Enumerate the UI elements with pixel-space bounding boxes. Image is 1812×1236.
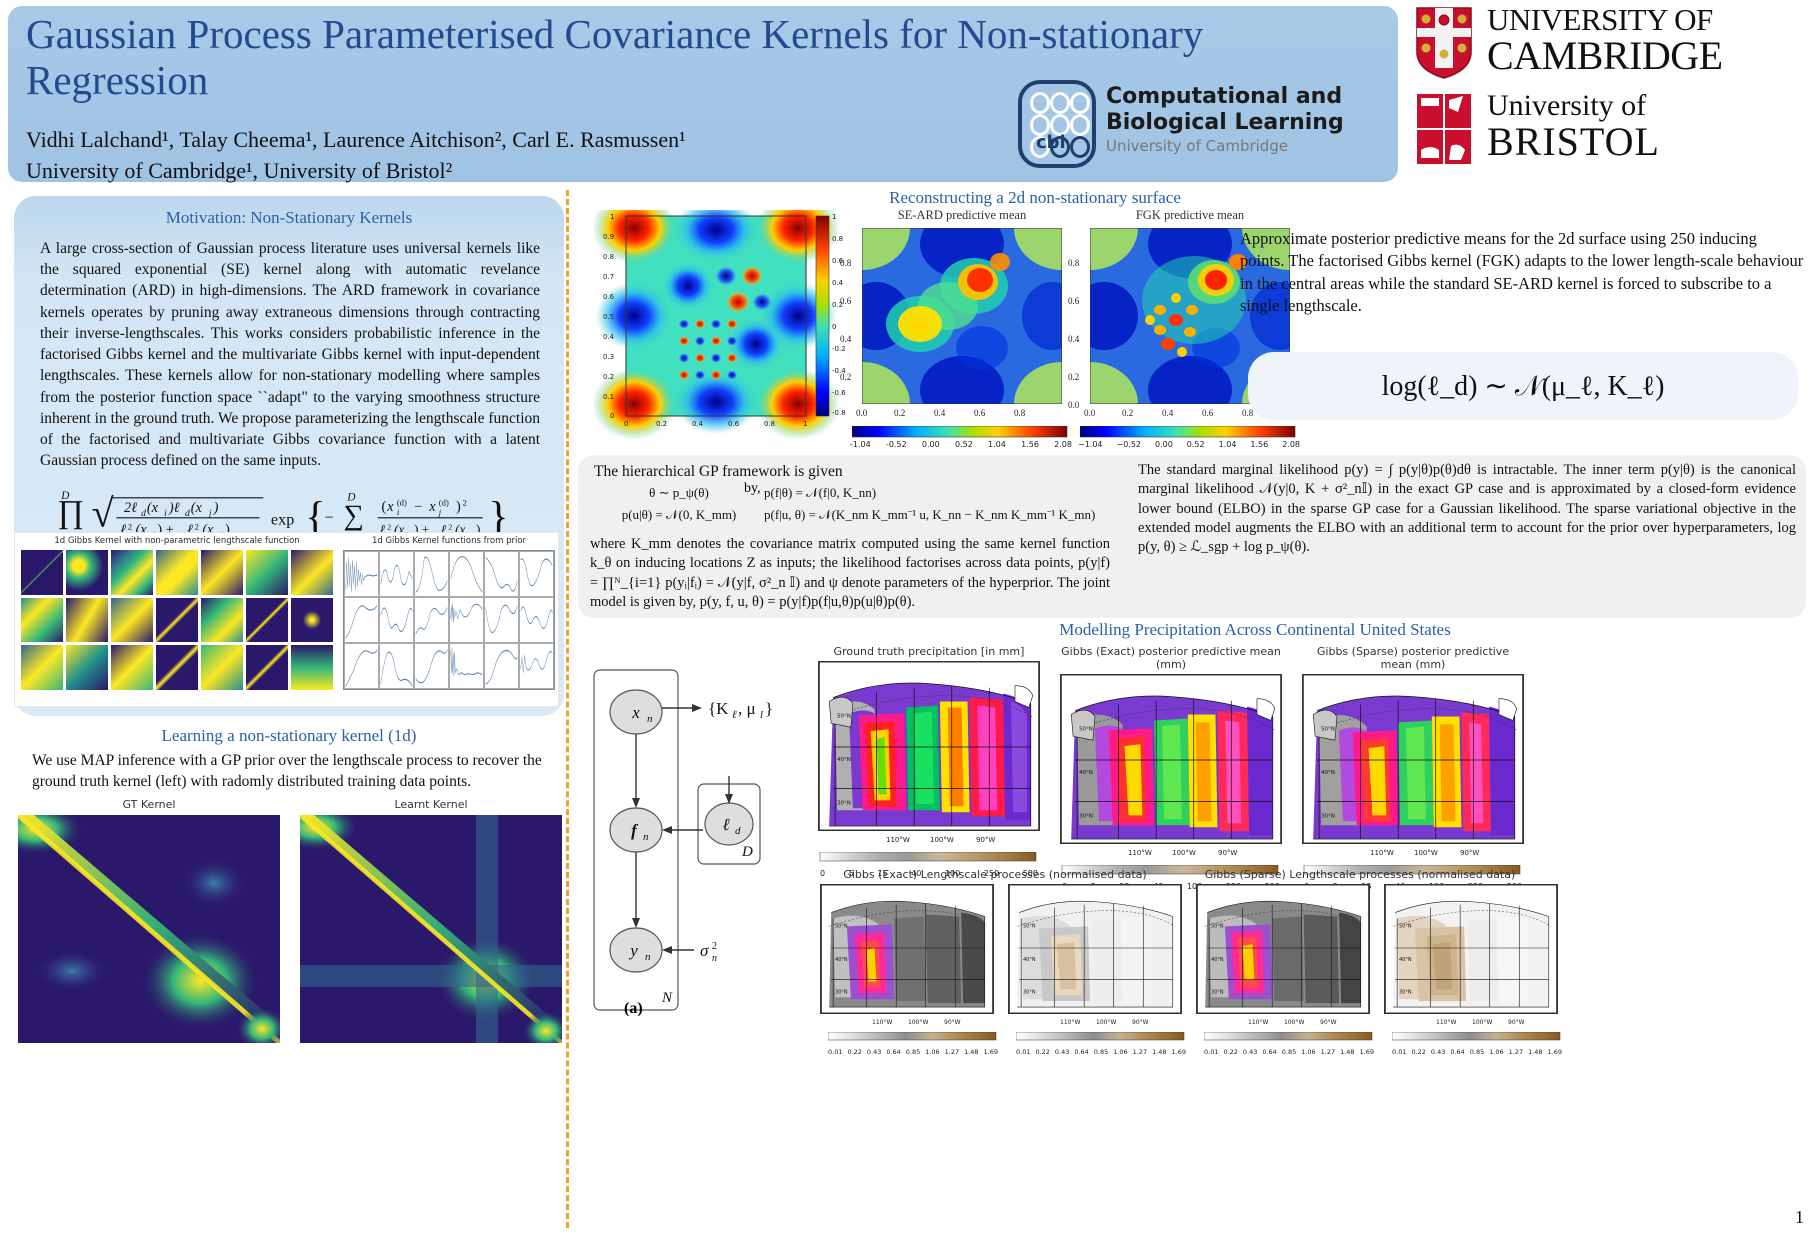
kernel-cell (111, 645, 153, 690)
svg-text:N: N (661, 990, 673, 1006)
kernel-cell (201, 550, 243, 595)
svg-text:y: y (628, 941, 638, 960)
svg-text:50°N: 50°N (1399, 923, 1412, 929)
precip-map-2-svg: 50°N 40°N 30°N (1060, 674, 1282, 844)
hierarchical-where-paragraph: where K_mm denotes the covariance matrix… (590, 535, 1110, 612)
lengthscale-map-2: 50°N 40°N 30°N 110°W 100°W 90°W (1008, 884, 1182, 1029)
svg-text:50°N: 50°N (1079, 726, 1093, 732)
svg-text:σ: σ (700, 941, 709, 960)
svg-text:30°N: 30°N (1079, 813, 1093, 819)
precip-map-1-colorbar (818, 852, 1040, 864)
fgk-colorbar-ticks: −1.04−0.520.000.521.041.562.08 (1078, 440, 1300, 449)
svg-text:): ) (456, 499, 461, 515)
kernel-cell (246, 550, 288, 595)
learnt-kernel-figure: Learnt Kernel (300, 798, 562, 1048)
svg-text:n: n (643, 831, 649, 843)
gt-kernel-figure: GT Kernel (18, 798, 280, 1048)
svg-text:n: n (645, 951, 651, 963)
lengthscale-colorbar-4-ticks: 0.010.220.430.640.851.061.271.481.69 (1392, 1048, 1562, 1056)
svg-text:30°N: 30°N (835, 989, 848, 995)
fgk-colorbar (1080, 426, 1300, 440)
kernel-cell (156, 645, 198, 690)
kernel-cell (246, 645, 288, 690)
svg-text:30°N: 30°N (1023, 989, 1036, 995)
gibbs-kernel-matrix-grid (21, 550, 333, 690)
learnt-kernel-title: Learnt Kernel (300, 798, 562, 811)
kernel-cell (291, 598, 333, 643)
gibbs-fig-left-title: 1d Gibbs Kernel with non-parametric leng… (21, 536, 333, 546)
lengthscale-colorbar-4: 0.010.220.430.640.851.061.271.481.69 (1392, 1030, 1562, 1056)
bristol-line-1: University of (1487, 90, 1660, 122)
svg-text:40°N: 40°N (837, 757, 851, 763)
hierarchical-framework-panel: The hierarchical GP framework is given b… (578, 455, 1806, 618)
svg-text:)ℓ: )ℓ (168, 500, 180, 516)
lengthscale-map-2-svg: 50°N 40°N 30°N (1008, 884, 1182, 1014)
lengthscale-sparse-title: Gibbs (Sparse) Lengthscale processes (no… (1190, 868, 1530, 881)
cbl-line-3: University of Cambridge (1106, 137, 1386, 155)
motivation-body-text: A large cross-section of Gaussian proces… (40, 238, 540, 472)
kernel-cell (291, 645, 333, 690)
prior-function-cell (344, 643, 379, 689)
kernel-cell (21, 550, 63, 595)
svg-text:i: i (397, 507, 400, 517)
svg-text:50°N: 50°N (1023, 923, 1036, 929)
svg-text:40°N: 40°N (1023, 957, 1036, 963)
kernel-cell (111, 550, 153, 595)
svg-text:x: x (631, 703, 640, 722)
cbl-wordmark: Computational and Biological Learning Un… (1106, 84, 1386, 155)
precip-map-3-svg: 50°N 40°N 30°N (1302, 674, 1524, 844)
kernel-cell (66, 645, 108, 690)
svg-text:30°N: 30°N (837, 800, 851, 806)
lengthscale-map-4-lonticks: 110°W 100°W 90°W (1384, 1019, 1558, 1029)
precip-map-3-title: Gibbs (Sparse) posterior predictive mean… (1302, 645, 1524, 671)
svg-text:2ℓ: 2ℓ (124, 500, 137, 516)
kernel-cell (156, 598, 198, 643)
reconstruction-blurb: Approximate posterior predictive means f… (1240, 228, 1805, 317)
motivation-heading: Motivation: Non-Stationary Kernels (14, 208, 564, 228)
author-list: Vidhi Lalchand¹, Talay Cheema¹, Laurence… (26, 124, 1026, 186)
seard-predictive-mean-figure: SE-ARD predictive mean 0.8 0.6 0.4 0.2 (862, 228, 1062, 428)
prior-function-cell (449, 643, 484, 689)
precip-map-2: Gibbs (Exact) posterior predictive mean … (1060, 645, 1282, 891)
seard-colorbar-ticks: -1.04-0.520.000.521.041.562.08 (850, 440, 1072, 449)
hierarchical-lead-text: The hierarchical GP framework is given (594, 463, 843, 481)
kernel-cell (246, 598, 288, 643)
svg-text:d: d (735, 825, 741, 837)
bristol-logo: University of BRISTOL (1415, 92, 1800, 182)
svg-text:(x: (x (147, 500, 159, 516)
lengthscale-map-4-svg: 50°N 40°N 30°N (1384, 884, 1558, 1014)
svg-text:30°N: 30°N (1399, 989, 1412, 995)
kernel-cell (111, 598, 153, 643)
svg-text:50°N: 50°N (1321, 726, 1335, 732)
svg-text:−: − (414, 499, 422, 515)
prior-function-cell (519, 643, 554, 689)
lengthscale-map-3: 50°N 40°N 30°N 110°W 100°W 90°W (1196, 884, 1370, 1029)
kernel-cell (156, 550, 198, 595)
seard-heatmap-svg (862, 228, 1062, 404)
lengthscale-colorbar-2: 0.010.220.430.640.851.061.271.481.69 (1016, 1030, 1186, 1056)
lengthscale-map-3-lonticks: 110°W 100°W 90°W (1196, 1019, 1370, 1029)
log-lengthscale-equation: log(ℓ_d) ∼ 𝒩(μ_ℓ, K_ℓ) (1248, 352, 1798, 420)
svg-text:(: ( (382, 499, 387, 515)
svg-text:40°N: 40°N (1211, 957, 1224, 963)
prior-function-cell (344, 551, 379, 597)
svg-text:40°N: 40°N (1399, 957, 1412, 963)
prior-function-cell (379, 597, 414, 643)
svg-text:D: D (60, 490, 70, 502)
svg-text:∑: ∑ (343, 501, 363, 532)
poster-header: Gaussian Process Parameterised Covarianc… (8, 6, 1398, 182)
cbl-line-1: Computational and (1106, 84, 1386, 110)
svg-text:50°N: 50°N (1211, 923, 1224, 929)
svg-text:j: j (438, 507, 442, 517)
prior-function-cell (449, 597, 484, 643)
lengthscale-colorbar-2-ticks: 0.010.220.430.640.851.061.271.481.69 (1016, 1048, 1186, 1056)
svg-text:50°N: 50°N (835, 923, 848, 929)
svg-text:40°N: 40°N (835, 957, 848, 963)
lengthscale-map-4: 50°N 40°N 30°N 110°W 100°W 90°W (1384, 884, 1558, 1029)
svg-text:n: n (712, 953, 717, 964)
prior-function-cell (484, 597, 519, 643)
gibbs-fig-right-title: 1d Gibbs Kernel functions from prior (343, 536, 555, 546)
kernel-cell (291, 550, 333, 595)
svg-text:ℓ: ℓ (732, 709, 737, 721)
svg-text:x: x (428, 499, 436, 515)
hier-eq-f-given-theta: p(f|θ) = 𝒩(f|0, K_nn) (764, 485, 1114, 501)
kernel-cell (201, 598, 243, 643)
reconstruction-heading: Reconstructing a 2d non-stationary surfa… (600, 188, 1470, 208)
gibbs-prior-functions-grid (343, 550, 555, 690)
prior-function-cell (484, 551, 519, 597)
svg-text:D: D (346, 492, 356, 504)
precip-map-3-lonticks: 110°W 100°W 90°W (1302, 849, 1524, 861)
prior-function-cell (519, 597, 554, 643)
prior-function-cell (414, 643, 449, 689)
prior-function-cell (414, 551, 449, 597)
svg-text:(d): (d) (397, 497, 407, 507)
authors-line-1: Vidhi Lalchand¹, Talay Cheema¹, Laurence… (26, 124, 1026, 155)
hier-eq-f-given-u-theta: p(f|u, θ) = 𝒩(K_nm K_mm⁻¹ u, K_nn − K_nm… (764, 507, 1114, 523)
cbl-line-2: Biological Learning (1106, 110, 1386, 136)
precip-map-2-lonticks: 110°W 100°W 90°W (1060, 849, 1282, 861)
lengthscale-map-3-svg: 50°N 40°N 30°N (1196, 884, 1370, 1014)
hierarchical-equations: θ ∼ p_ψ(θ) p(f|θ) = 𝒩(f|0, K_nn) p(u|θ) … (594, 485, 1114, 523)
cambridge-line-1: UNIVERSITY OF (1487, 4, 1723, 36)
cambridge-logo: UNIVERSITY OF CAMBRIDGE (1415, 6, 1800, 86)
precip-map-1-title: Ground truth precipitation [in mm] (818, 645, 1040, 658)
log-equation-text: log(ℓ_d) ∼ 𝒩(μ_ℓ, K_ℓ) (1382, 369, 1665, 403)
plate-diagram-svg: N D x n f n y n ℓ d {K ℓ , μ l } (590, 660, 820, 1020)
svg-text:(d): (d) (439, 497, 449, 507)
prior-function-cell (344, 597, 379, 643)
lengthscale-colorbar-1-ticks: 0.010.220.430.640.851.061.271.481.69 (828, 1048, 998, 1056)
kernel-cell (21, 645, 63, 690)
svg-text:, μ: , μ (738, 699, 756, 718)
page-number: 1 (1795, 1207, 1804, 1228)
learning-body-text: We use MAP inference with a GP prior ove… (32, 750, 552, 792)
svg-text:}: } (765, 699, 773, 718)
cambridge-crest-icon (1415, 6, 1473, 80)
precip-map-1-lonticks: 110°W 100°W 90°W (818, 836, 1040, 848)
gibbs-kernel-figure: 1d Gibbs Kernel with non-parametric leng… (14, 532, 559, 707)
svg-text:2: 2 (712, 941, 717, 952)
svg-text:√: √ (92, 490, 114, 535)
svg-text:ℓ: ℓ (722, 815, 729, 834)
hier-eq-u-given-theta: p(u|θ) = 𝒩(0, K_mm) (594, 507, 764, 523)
fgk-title: FGK predictive mean (1090, 208, 1290, 223)
kernel-cell (66, 598, 108, 643)
prior-function-cell (484, 643, 519, 689)
lengthscale-exact-title: Gibbs (Exact) Lengthscale processes (nor… (830, 868, 1160, 881)
lengthscale-map-1-lonticks: 110°W 100°W 90°W (820, 1019, 994, 1029)
cambridge-line-2: CAMBRIDGE (1487, 36, 1723, 76)
bristol-crest-icon (1415, 92, 1473, 166)
svg-text:30°N: 30°N (1321, 813, 1335, 819)
svg-text:2: 2 (463, 497, 467, 507)
prior-function-cell (379, 643, 414, 689)
prior-function-cell (519, 551, 554, 597)
svg-text:(x: (x (191, 500, 203, 516)
surface-heatmap-svg (594, 210, 844, 445)
svg-text:40°N: 40°N (1079, 770, 1093, 776)
lengthscale-map-1: 50°N 40°N 30°N 110°W 100°W 90°W (820, 884, 994, 1029)
column-divider (566, 190, 569, 1228)
seard-title: SE-ARD predictive mean (862, 208, 1062, 223)
svg-text:40°N: 40°N (1321, 770, 1335, 776)
standard-marginal-likelihood-paragraph: The standard marginal likelihood p(y) = … (1138, 461, 1796, 557)
svg-text:30°N: 30°N (1211, 989, 1224, 995)
svg-text:x: x (386, 499, 394, 515)
hier-eq-theta: θ ∼ p_ψ(θ) (594, 485, 764, 501)
ground-truth-surface-figure: 1 0.9 0.8 0.7 0.6 0.5 0.4 0.3 0.2 0.1 0 … (594, 210, 844, 445)
gt-kernel-heatmap (18, 815, 280, 1043)
kernel-cell (201, 645, 243, 690)
prior-function-cell (379, 551, 414, 597)
lengthscale-colorbar-3-ticks: 0.010.220.430.640.851.061.271.481.69 (1204, 1048, 1374, 1056)
lengthscale-colorbar-1: 0.010.220.430.640.851.061.271.481.69 (828, 1030, 998, 1056)
plate-diagram: N D x n f n y n ℓ d {K ℓ , μ l } (590, 660, 820, 1020)
svg-text:): ) (213, 500, 219, 516)
gt-kernel-title: GT Kernel (18, 798, 280, 811)
learnt-kernel-heatmap (300, 815, 562, 1043)
authors-line-2: University of Cambridge¹, University of … (26, 155, 1026, 186)
precip-map-1: Ground truth precipitation [in mm] (818, 645, 1040, 878)
precipitation-heading: Modelling Precipitation Across Continent… (700, 620, 1810, 640)
prior-function-cell (414, 597, 449, 643)
lengthscale-map-1-svg: 50°N 40°N 30°N (820, 884, 994, 1014)
svg-text:{K: {K (708, 699, 729, 718)
bristol-line-2: BRISTOL (1487, 122, 1660, 162)
lengthscale-map-2-lonticks: 110°W 100°W 90°W (1008, 1019, 1182, 1029)
learning-heading: Learning a non-stationary kernel (1d) (14, 726, 564, 746)
svg-text:−: − (324, 509, 333, 527)
kernel-cell (21, 598, 63, 643)
lengthscale-colorbar-3: 0.010.220.430.640.851.061.271.481.69 (1204, 1030, 1374, 1056)
svg-text:50°N: 50°N (837, 713, 851, 719)
precip-map-2-title: Gibbs (Exact) posterior predictive mean … (1060, 645, 1282, 671)
cambridge-wordmark: UNIVERSITY OF CAMBRIDGE (1487, 4, 1723, 76)
svg-text:l: l (760, 709, 763, 721)
kernel-cell (66, 550, 108, 595)
plate-diagram-caption: (a) (624, 1000, 643, 1018)
seard-colorbar (852, 426, 1072, 440)
svg-text:exp: exp (271, 511, 294, 529)
cbl-mark-icon: cbl (1018, 80, 1096, 168)
svg-text:D: D (741, 844, 753, 860)
cbl-logo: cbl Computational and Biological Learnin… (1018, 80, 1388, 170)
precip-map-3: Gibbs (Sparse) posterior predictive mean… (1302, 645, 1524, 891)
prior-function-cell (449, 551, 484, 597)
svg-text:n: n (647, 713, 653, 725)
bristol-wordmark: University of BRISTOL (1487, 90, 1660, 162)
precip-map-1-svg: 50°N 40°N 30°N (818, 661, 1040, 831)
